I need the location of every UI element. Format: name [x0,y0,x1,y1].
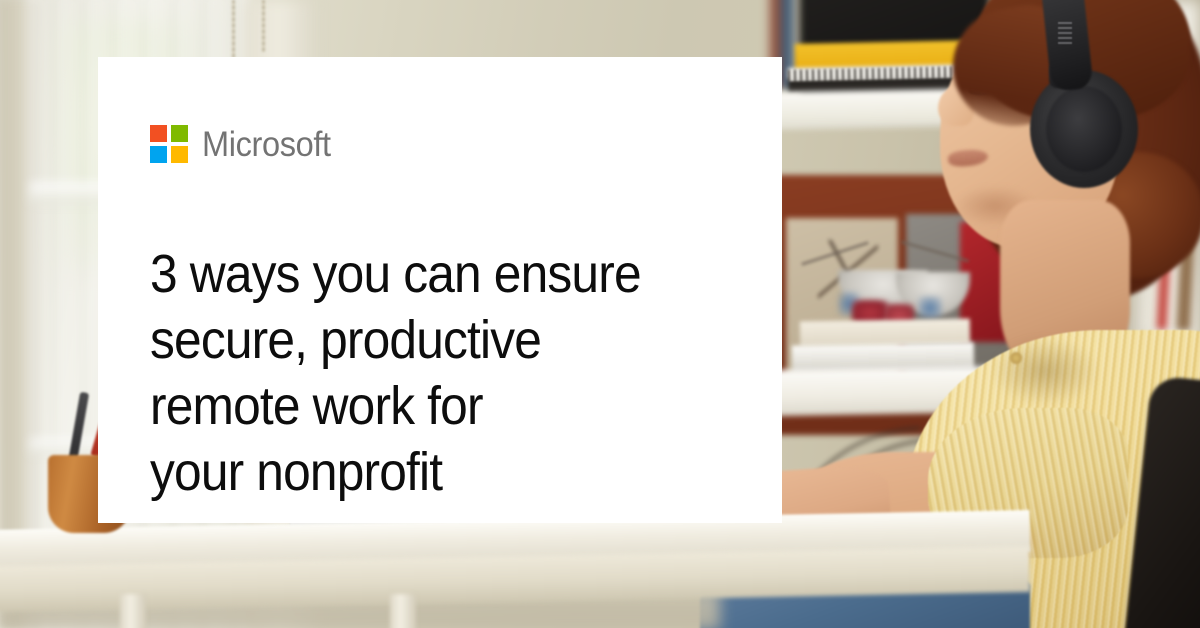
blouse-collar-shadow [990,336,1100,406]
headphone-label [1058,22,1072,44]
text-card: Microsoft 3 ways you can ensure secure, … [98,57,782,523]
microsoft-logo-lockup: Microsoft [150,125,340,163]
headphone-earcup-inner [1046,86,1122,172]
logo-square-yellow-icon [171,146,188,163]
headline-line-4: your nonprofit [150,439,702,505]
logo-square-blue-icon [150,146,167,163]
headline-line-2: secure, productive [150,307,702,373]
headline-line-1: 3 ways you can ensure [150,241,702,307]
page-title: 3 ways you can ensure secure, productive… [150,241,702,505]
desk-leg-right [390,594,416,628]
headline-line-3: remote work for [150,373,702,439]
marketing-banner: Microsoft 3 ways you can ensure secure, … [0,0,1200,628]
desk-leg-left [120,594,146,628]
logo-square-red-icon [150,125,167,142]
blouse-button [1010,352,1022,364]
logo-square-green-icon [171,125,188,142]
microsoft-wordmark: Microsoft [202,127,331,162]
microsoft-logo-icon [150,125,188,163]
